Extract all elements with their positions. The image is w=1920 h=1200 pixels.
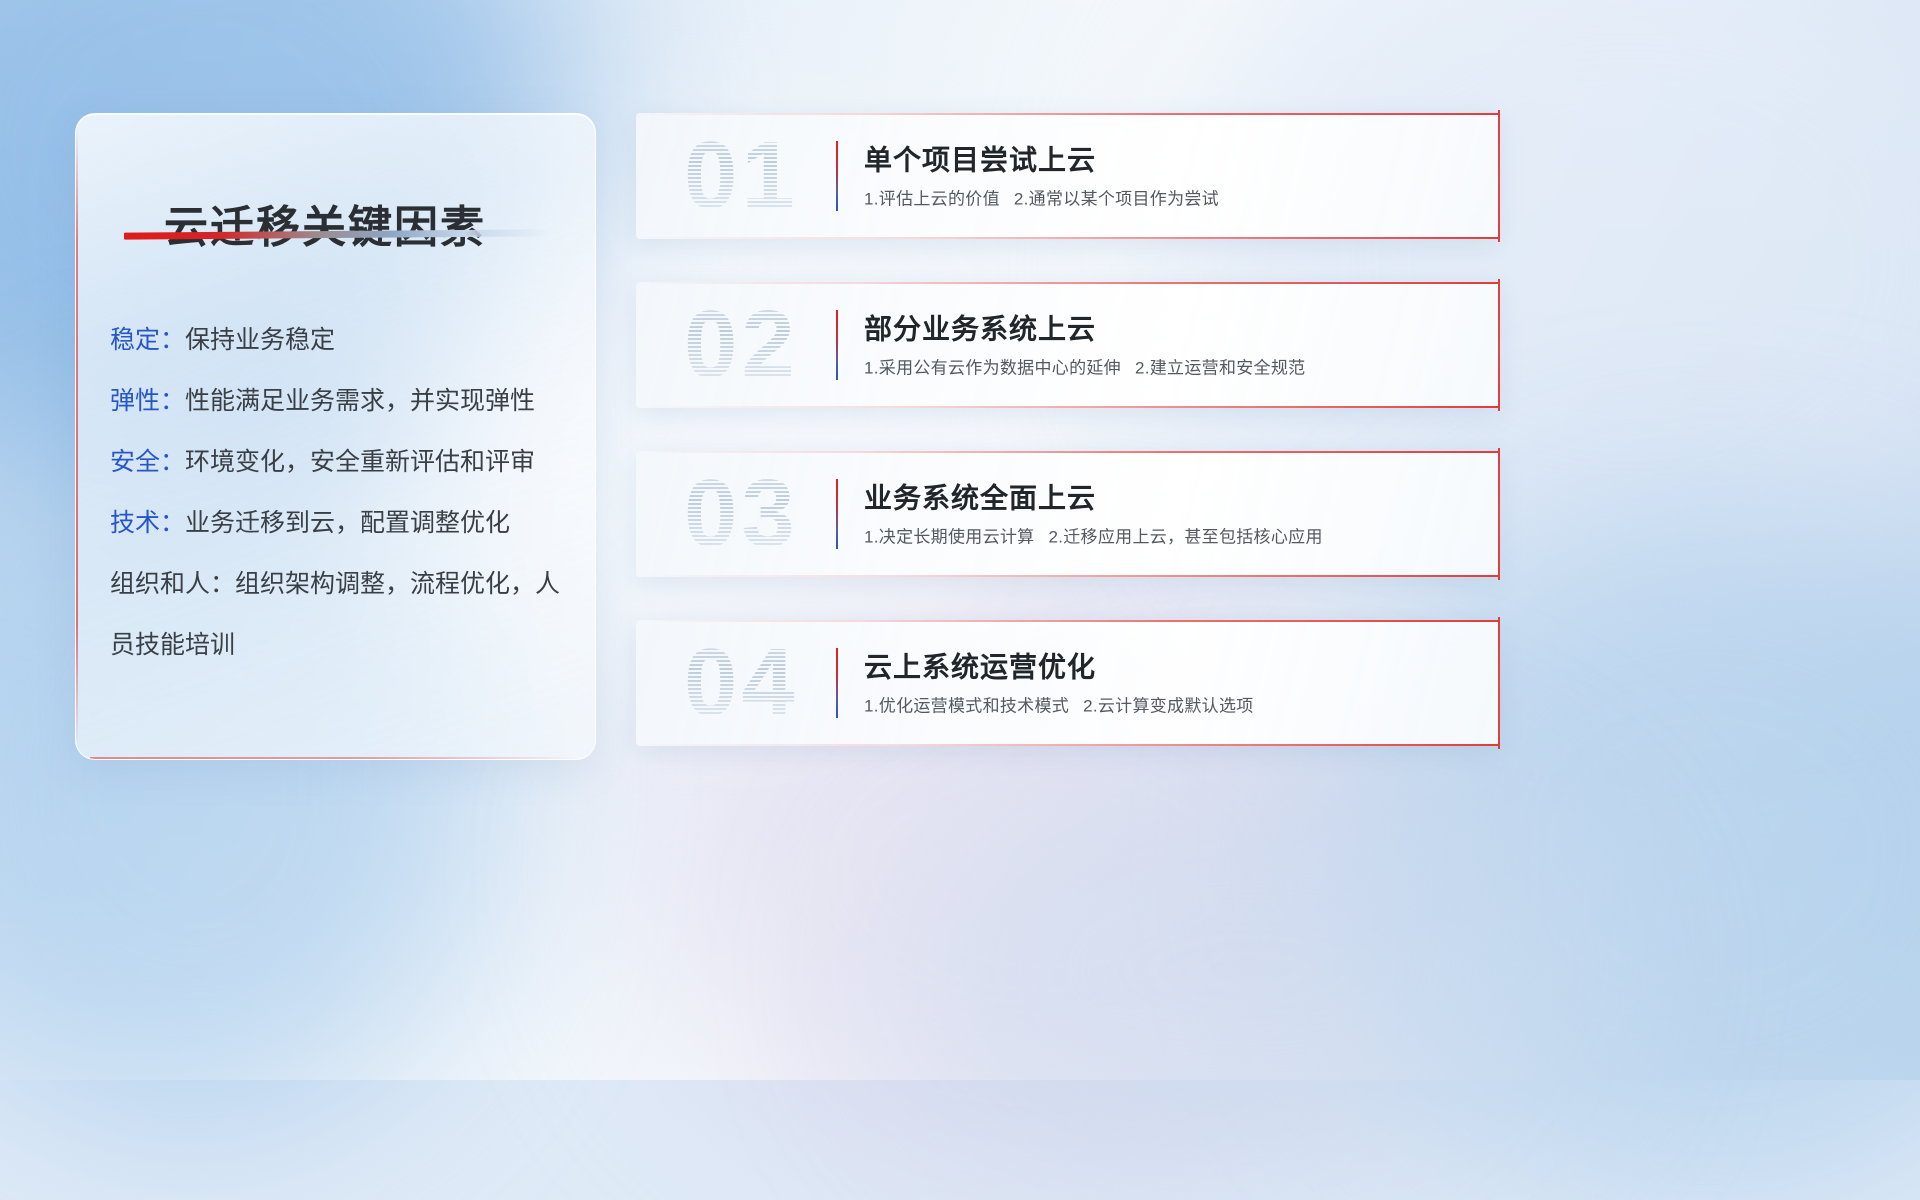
card-point: 2.通常以某个项目作为尝试 — [1014, 190, 1219, 209]
list-item-key: 安全： — [110, 448, 185, 476]
card-description: 1.评估上云的价值2.通常以某个项目作为尝试 — [864, 185, 1472, 210]
card-title: 部分业务系统上云 — [864, 312, 1472, 347]
card-accent-edge — [1498, 448, 1500, 580]
list-item-key: 技术： — [110, 509, 185, 537]
list-item-key: 弹性： — [110, 387, 185, 415]
stage-card[interactable]: 02 部分业务系统上云 1.采用公有云作为数据中心的延伸2.建立运营和安全规范 — [636, 282, 1498, 408]
stage-number-text: 02 — [684, 290, 799, 400]
list-item: 稳定：保持业务稳定 — [110, 310, 573, 371]
card-accent-edge — [1498, 279, 1500, 411]
stage-card[interactable]: 04 云上系统运营优化 1.优化运营模式和技术模式2.云计算变成默认选项 — [636, 620, 1498, 746]
card-accent-edge — [1498, 617, 1500, 749]
card-divider — [836, 310, 838, 380]
list-item-value: 环境变化，安全重新评估和评审 — [185, 448, 535, 476]
card-description: 1.采用公有云作为数据中心的延伸2.建立运营和安全规范 — [864, 354, 1472, 379]
list-item: 组织和人：组织架构调整，流程优化，人员技能培训 — [110, 554, 573, 676]
card-body: 部分业务系统上云 1.采用公有云作为数据中心的延伸2.建立运营和安全规范 — [864, 312, 1472, 379]
card-divider — [836, 479, 838, 549]
card-point: 1.评估上云的价值 — [864, 190, 1000, 209]
card-point: 2.迁移应用上云，甚至包括核心应用 — [1048, 528, 1322, 547]
card-point: 1.采用公有云作为数据中心的延伸 — [864, 359, 1121, 378]
list-item-value: 性能满足业务需求，并实现弹性 — [185, 387, 535, 415]
list-item: 安全：环境变化，安全重新评估和评审 — [110, 432, 573, 493]
card-point: 1.优化运营模式和技术模式 — [864, 697, 1069, 716]
stage-card[interactable]: 01 单个项目尝试上云 1.评估上云的价值2.通常以某个项目作为尝试 — [636, 113, 1498, 239]
card-point: 2.建立运营和安全规范 — [1135, 359, 1305, 378]
card-point: 1.决定长期使用云计算 — [864, 528, 1034, 547]
list-item: 技术：业务迁移到云，配置调整优化 — [110, 493, 573, 554]
card-body: 单个项目尝试上云 1.评估上云的价值2.通常以某个项目作为尝试 — [864, 143, 1472, 210]
stage-number-text: 03 — [684, 459, 799, 569]
card-body: 业务系统全面上云 1.决定长期使用云计算2.迁移应用上云，甚至包括核心应用 — [864, 481, 1472, 548]
list-item-value: 保持业务稳定 — [185, 326, 335, 354]
key-factors-panel: 云迁移关键因素 稳定：保持业务稳定 弹性：性能满足业务需求，并实现弹性 安全：环… — [75, 113, 596, 760]
list-item-value: 业务迁移到云，配置调整优化 — [185, 509, 510, 537]
stage-number-text: 01 — [684, 121, 799, 231]
card-point: 2.云计算变成默认选项 — [1083, 697, 1253, 716]
key-factors-list: 稳定：保持业务稳定 弹性：性能满足业务需求，并实现弹性 安全：环境变化，安全重新… — [110, 310, 573, 676]
slide-stage: 云迁移关键因素 稳定：保持业务稳定 弹性：性能满足业务需求，并实现弹性 安全：环… — [0, 0, 1920, 1080]
card-accent-edge — [1498, 110, 1500, 242]
card-description: 1.优化运营模式和技术模式2.云计算变成默认选项 — [864, 692, 1472, 717]
stage-card[interactable]: 03 业务系统全面上云 1.决定长期使用云计算2.迁移应用上云，甚至包括核心应用 — [636, 451, 1498, 577]
stage-card-list: 01 单个项目尝试上云 1.评估上云的价值2.通常以某个项目作为尝试 02 部分… — [636, 113, 1498, 789]
card-body: 云上系统运营优化 1.优化运营模式和技术模式2.云计算变成默认选项 — [864, 650, 1472, 717]
card-title: 云上系统运营优化 — [864, 650, 1472, 685]
card-divider — [836, 648, 838, 718]
panel-title: 云迁移关键因素 — [164, 191, 486, 255]
list-item: 弹性：性能满足业务需求，并实现弹性 — [110, 371, 573, 432]
card-title: 业务系统全面上云 — [864, 481, 1472, 516]
stage-number-text: 04 — [684, 628, 799, 738]
card-description: 1.决定长期使用云计算2.迁移应用上云，甚至包括核心应用 — [864, 523, 1472, 548]
list-item-key: 组织和人： — [110, 570, 235, 598]
card-divider — [836, 141, 838, 211]
card-title: 单个项目尝试上云 — [864, 143, 1472, 178]
list-item-key: 稳定： — [110, 326, 185, 354]
